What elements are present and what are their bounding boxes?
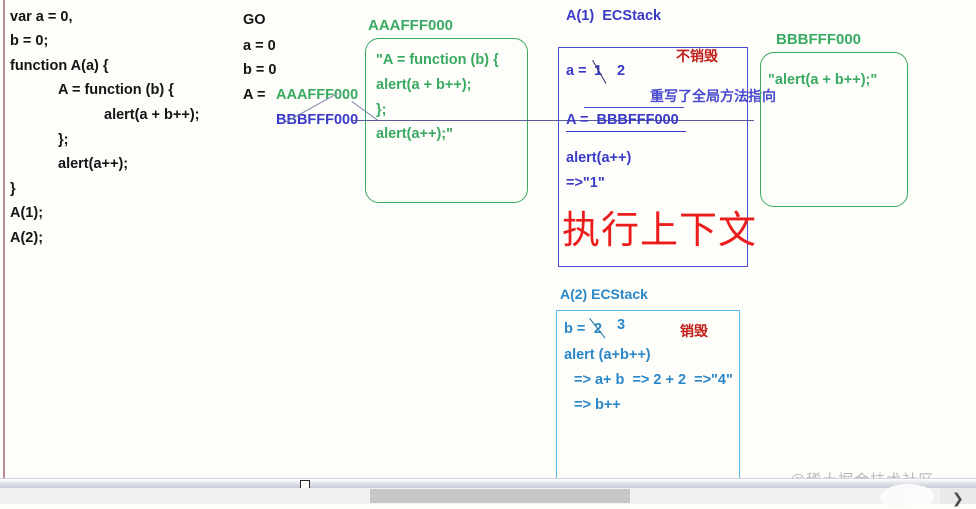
ec-a1-big-label: 执行上下文 [562,212,757,250]
bottom-chrome: ❯ [0,478,976,504]
go-a-assign-label: A = [243,88,265,103]
ec-a1-note-blue: 重写了全局方法指向 [650,89,776,103]
ec-a1-exec-line: alert(a++) [566,151,631,166]
heap-bbbfff000-label: BBBFFF000 [776,32,861,47]
ec-a1-note-red: 不销毁 [676,49,718,63]
left-margin-rule [3,0,5,484]
ec-a1-var-a-label: a = [566,64,587,79]
code-line-9: A(1); [10,206,43,221]
heap-bbbfff000-line-1: "alert(a + b++);" [768,73,877,88]
ec-a2-result-line: => a+ b => 2 + 2 =>"4" [574,373,733,388]
code-line-1: var a = 0, [10,10,72,25]
ec-a2-var-b-label: b = [564,322,585,337]
go-entry-a: a = 0 [243,39,276,54]
go-a-value-old: AAAFFF000 [276,88,358,103]
scroll-right-chevron-icon[interactable]: ❯ [952,490,964,507]
code-line-5: alert(a + b++); [104,108,200,123]
ec-a1-result-line: =>"1" [566,176,605,191]
ec-a2-followup-line: => b++ [574,398,621,413]
ec-a2-note-red: 销毁 [680,324,708,338]
slide-canvas: var a = 0, b = 0; function A(a) { A = fu… [0,0,976,504]
ec-a1-a-ref-underline [566,131,686,132]
ec-a2-title: A(2) ECStack [560,287,648,301]
ec-a1-var-a-new: 2 [617,64,625,79]
go-entry-b: b = 0 [243,63,276,78]
code-line-3: function A(a) { [10,59,109,74]
code-line-10: A(2); [10,231,43,246]
heap-aaafff000-label: AAAFFF000 [368,18,453,33]
heap-aaafff000-line-2: alert(a + b++); [376,78,472,93]
heap-aaafff000-line-3: }; [376,103,386,118]
ec-a2-var-b-new: 3 [617,318,625,333]
horizontal-scrollbar-thumb[interactable] [370,489,630,503]
code-line-4: A = function (b) { [58,83,174,98]
heap-aaafff000-line-4: alert(a++);" [376,127,453,142]
ec-a1-a-ref-overline [584,107,684,108]
go-title: GO [243,13,266,28]
code-line-2: b = 0; [10,34,48,49]
ec-a1-a-ref-line: A = BBBFFF000 [566,113,679,128]
ec-a1-title: A(1) ECStack [566,9,661,24]
code-line-6: }; [58,133,68,148]
code-line-8: } [10,182,16,197]
code-line-7: alert(a++); [58,157,128,172]
heap-aaafff000-line-1: "A = function (b) { [376,53,499,68]
ec-a2-exec-line: alert (a+b++) [564,348,651,363]
